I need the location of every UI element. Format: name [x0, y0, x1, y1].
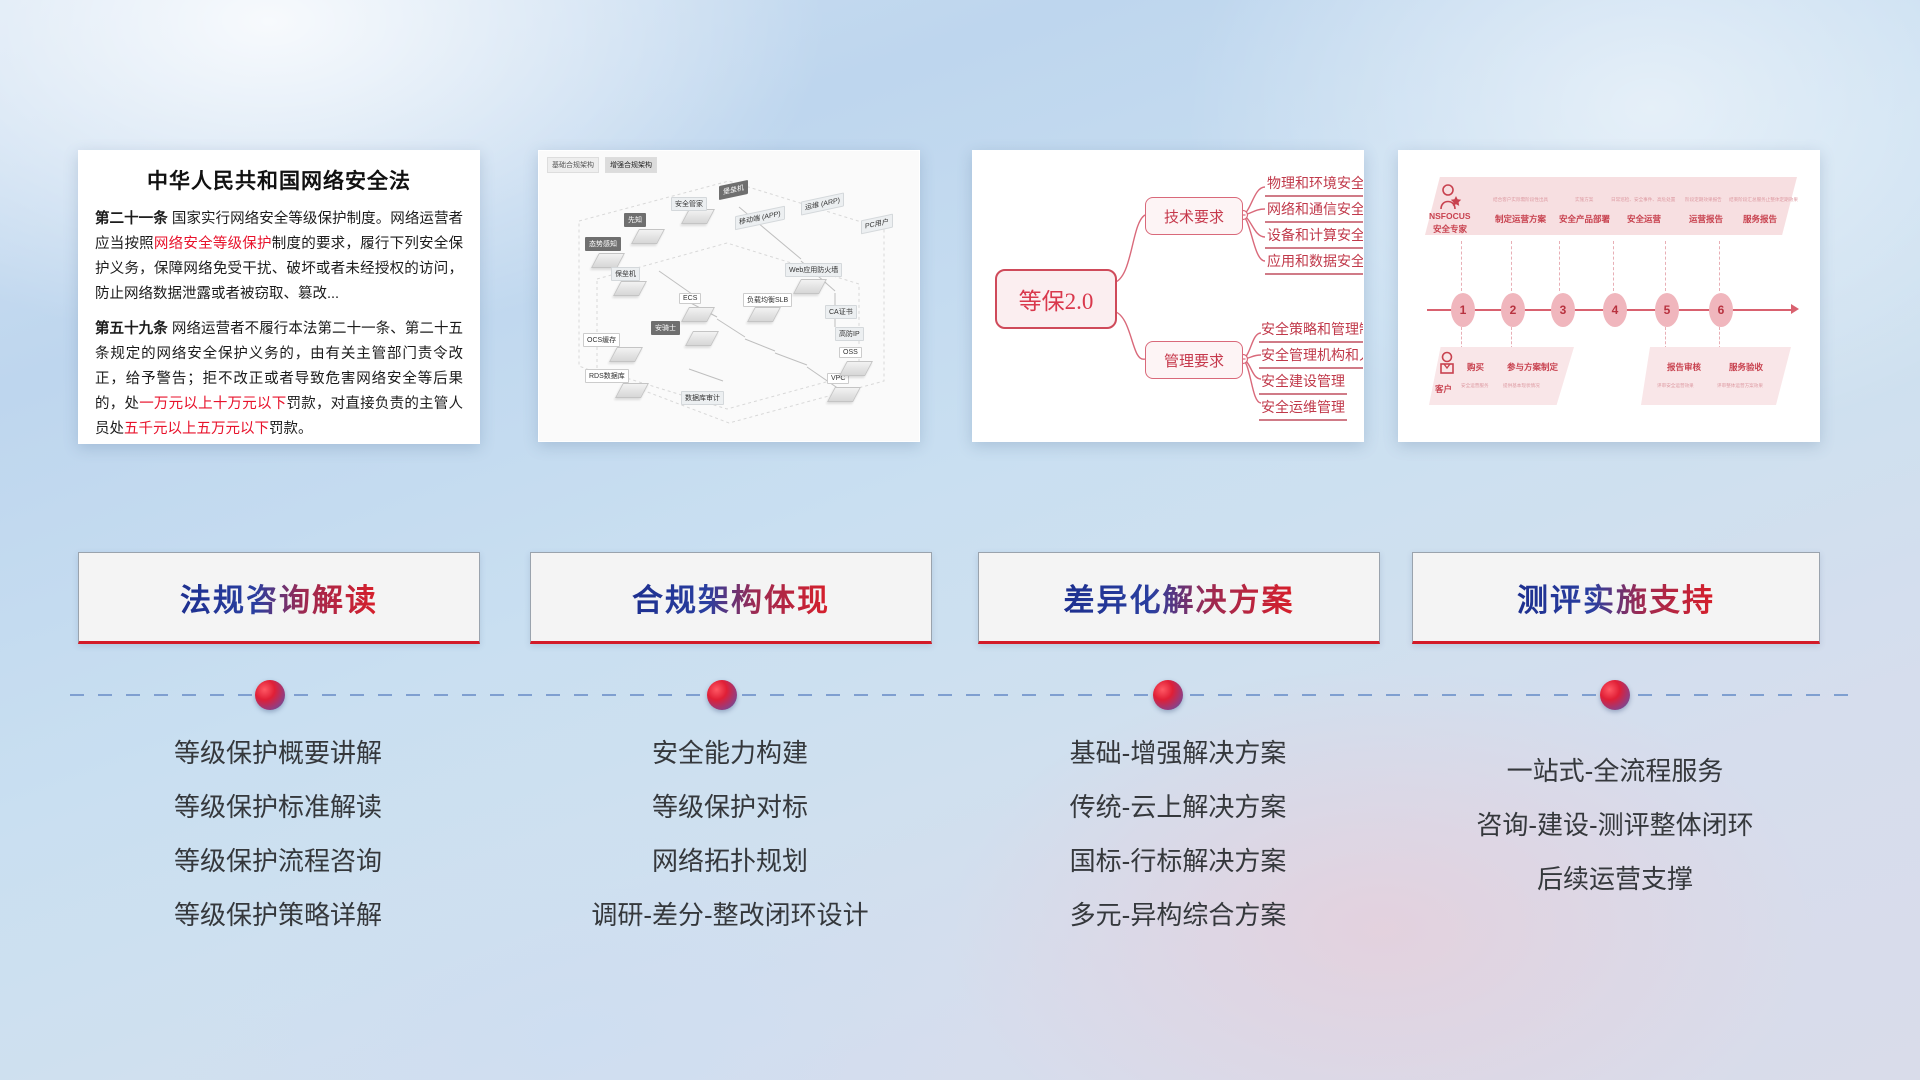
list-item: 安全能力构建 — [530, 740, 930, 766]
mindmap-leaf-mgmt-4: 安全运维管理 — [1259, 397, 1347, 421]
list-item: 后续运营支撑 — [1412, 866, 1818, 892]
pillar-box-regulation-consulting[interactable]: 法规咨询解读 — [78, 552, 480, 644]
nsfocus-step-2-sub: 结合客户实际需阶段性出具 — [1493, 197, 1548, 203]
nsfocus-step-4-dot: 4 — [1603, 293, 1627, 327]
timeline-dot-4[interactable] — [1600, 680, 1630, 710]
arch-node-slb: 负载均衡SLB — [743, 293, 792, 307]
nsfocus-step-5-dot: 5 — [1655, 293, 1679, 327]
pillar-boxes-row: 法规咨询解读 合规架构体现 差异化解决方案 测评实施支持 — [0, 552, 1920, 642]
nsfocus-step-3-dot: 3 — [1551, 293, 1575, 327]
mindmap-leaf-tech-4: 应用和数据安全 — [1265, 251, 1364, 275]
list-item: 调研-差分-整改闭环设计 — [530, 902, 930, 928]
nsfocus-bl-2-label: 参与方案制定 — [1507, 361, 1558, 373]
timeline-dot-3[interactable] — [1153, 680, 1183, 710]
pillar-label-4: 测评实施支持 — [1517, 575, 1715, 620]
list-item: 网络拓扑规划 — [530, 848, 930, 874]
list-item: 等级保护对标 — [530, 794, 930, 820]
nsfocus-bl-2-sub: 提供基本现状情况 — [1503, 383, 1540, 389]
nsfocus-step-2-label: 制定运营方案 — [1495, 213, 1546, 225]
law-article-21-highlight: 网络安全等级保护 — [154, 236, 272, 252]
nsfocus-step-5-label: 运营报告 — [1689, 213, 1723, 225]
detail-list-4: 一站式-全流程服务 咨询-建设-测评整体闭环 后续运营支撑 — [1412, 758, 1818, 920]
list-item: 传统-云上解决方案 — [978, 794, 1378, 820]
nsfocus-brand: NSFOCUS — [1429, 211, 1471, 221]
list-item: 基础-增强解决方案 — [978, 740, 1378, 766]
list-item: 等级保护概要讲解 — [78, 740, 478, 766]
pillar-label-3: 差异化解决方案 — [1064, 575, 1295, 620]
timeline-dot-1[interactable] — [255, 680, 285, 710]
law-fine-person: 五千元以上五万元以下 — [124, 421, 269, 437]
mindmap-diagram: 等保2.0 技术要求 管理要求 物理和环境安全 网络和通信安全 设备和计算安全 … — [973, 151, 1363, 441]
arch-node-oss: OSS — [839, 347, 862, 358]
screenshot-cards-row: 中华人民共和国网络安全法 第二十一条 国家实行网络安全等级保护制度。网络运营者应… — [0, 150, 1920, 450]
pillar-box-assessment-support[interactable]: 测评实施支持 — [1412, 552, 1820, 644]
law-fine-company: 一万元以上十万元以下 — [139, 396, 286, 412]
pillar-box-differentiated-solution[interactable]: 差异化解决方案 — [978, 552, 1380, 644]
arch-node-ocs-cache: OCS缓存 — [583, 333, 620, 347]
law-article-59-end: 罚款。 — [269, 421, 313, 437]
arch-node-situation-awareness: 态势感知 — [585, 237, 621, 251]
arch-node-anqishi: 安骑士 — [651, 321, 680, 335]
mindmap-leaf-mgmt-2: 安全管理机构和人员 — [1259, 345, 1364, 369]
list-item: 国标-行标解决方案 — [978, 848, 1378, 874]
arch-node-anti-ddos: 高防IP — [835, 327, 864, 341]
nsfocus-step-4-label: 安全运营 — [1627, 213, 1661, 225]
arch-node-bastion: 保垒机 — [611, 267, 640, 281]
nsfocus-step-6-label: 服务报告 — [1743, 213, 1777, 225]
architecture-diagram: 基础合规架构 增强合规架构 — [539, 151, 919, 441]
arch-node-db-audit: 数据库审计 — [681, 391, 724, 405]
list-item: 咨询-建设-测评整体闭环 — [1412, 812, 1818, 838]
nsfocus-brand-sub: 安全专家 — [1433, 223, 1467, 235]
card-dengbao-mindmap[interactable]: 等保2.0 技术要求 管理要求 物理和环境安全 网络和通信安全 设备和计算安全 … — [972, 150, 1364, 442]
law-article-21: 第二十一条 国家实行网络安全等级保护制度。网络运营者应当按照网络安全等级保护制度… — [95, 207, 463, 307]
mindmap-leaf-mgmt-3: 安全建设管理 — [1259, 371, 1347, 395]
list-item: 等级保护策略详解 — [78, 902, 478, 928]
law-article-21-label: 第二十一条 — [95, 211, 168, 227]
mindmap-branch-technical: 技术要求 — [1145, 197, 1243, 235]
detail-list-3: 基础-增强解决方案 传统-云上解决方案 国标-行标解决方案 多元-异构综合方案 — [978, 740, 1378, 956]
law-article-59-label: 第五十九条 — [95, 321, 168, 337]
mindmap-leaf-tech-3: 设备和计算安全 — [1265, 225, 1364, 249]
nsfocus-step-3-label: 安全产品部署 — [1559, 213, 1610, 225]
mindmap-leaf-tech-2: 网络和通信安全 — [1265, 199, 1364, 223]
nsfocus-step-2-dot: 2 — [1501, 293, 1525, 327]
detail-list-2: 安全能力构建 等级保护对标 网络拓扑规划 调研-差分-整改闭环设计 — [530, 740, 930, 956]
nsfocus-top-band — [1425, 177, 1797, 235]
list-item: 一站式-全流程服务 — [1412, 758, 1818, 784]
nsfocus-bl-1-label: 购买 — [1467, 361, 1484, 373]
nsfocus-step-6-dot: 6 — [1709, 293, 1733, 327]
nsfocus-br-2-label: 服务验收 — [1729, 361, 1763, 373]
pillar-label-1: 法规咨询解读 — [180, 575, 378, 620]
timeline-dot-2[interactable] — [707, 680, 737, 710]
nsfocus-customer-label: 客户 — [1435, 383, 1452, 395]
nsfocus-br-1-label: 报告审核 — [1667, 361, 1701, 373]
nsfocus-step-3-sub: 实施方案 — [1575, 197, 1593, 203]
poster-stage: 中华人民共和国网络安全法 第二十一条 国家实行网络安全等级保护制度。网络运营者应… — [0, 0, 1920, 1080]
security-expert-icon — [1437, 183, 1463, 211]
nsfocus-diagram: NSFOCUS 安全专家 结合客户实际需阶段性出具 制定运营方案 实施方案 安全… — [1399, 151, 1819, 441]
card-nsfocus-service-flow[interactable]: NSFOCUS 安全专家 结合客户实际需阶段性出具 制定运营方案 实施方案 安全… — [1398, 150, 1820, 442]
mindmap-root: 等保2.0 — [995, 269, 1117, 329]
law-body: 中华人民共和国网络安全法 第二十一条 国家实行网络安全等级保护制度。网络运营者应… — [79, 151, 479, 443]
arch-node-waf: Web应用防火墙 — [785, 263, 842, 277]
mindmap-leaf-tech-1: 物理和环境安全 — [1265, 173, 1364, 197]
card-compliance-architecture[interactable]: 基础合规架构 增强合规架构 — [538, 150, 920, 442]
law-title: 中华人民共和国网络安全法 — [95, 165, 463, 195]
nsfocus-step-5-sub: 阶段定期效果报告 — [1685, 197, 1722, 203]
list-item: 等级保护流程咨询 — [78, 848, 478, 874]
arch-node-ecs: ECS — [679, 293, 701, 304]
timeline-dashed-line — [70, 694, 1850, 696]
law-article-59: 第五十九条 网络运营者不履行本法第二十一条、第二十五条规定的网络安全保护义务的，… — [95, 317, 463, 442]
list-item: 多元-异构综合方案 — [978, 902, 1378, 928]
mindmap-branch-management: 管理要求 — [1145, 341, 1243, 379]
pillar-label-2: 合规架构体现 — [632, 575, 830, 620]
customer-icon — [1437, 351, 1459, 377]
list-item: 等级保护标准解读 — [78, 794, 478, 820]
nsfocus-step-4-sub: 日常巡检、安全事件、高危处置 — [1611, 197, 1675, 203]
nsfocus-bl-1-sub: 安全运营服务 — [1461, 383, 1489, 389]
nsfocus-br-1-sub: 评审安全运营效果 — [1657, 383, 1694, 389]
nsfocus-step-1-dot: 1 — [1451, 293, 1475, 327]
nsfocus-customer-trapezoid-right — [1641, 347, 1791, 405]
arch-node-rds: RDS数据库 — [585, 369, 629, 383]
pillar-box-compliance-architecture[interactable]: 合规架构体现 — [530, 552, 932, 644]
arch-node-security-butler: 安全管家 — [671, 197, 707, 211]
nsfocus-axis-arrow — [1791, 304, 1799, 314]
card-cybersecurity-law[interactable]: 中华人民共和国网络安全法 第二十一条 国家实行网络安全等级保护制度。网络运营者应… — [78, 150, 480, 444]
detail-list-1: 等级保护概要讲解 等级保护标准解读 等级保护流程咨询 等级保护策略详解 — [78, 740, 478, 956]
nsfocus-step-6-sub: 结束阶段汇总服务止整体定期效果 — [1729, 197, 1798, 203]
mindmap-leaf-mgmt-1: 安全策略和管理制度 — [1259, 319, 1364, 343]
arch-node-ca-cert: CA证书 — [825, 305, 857, 319]
nsfocus-br-2-sub: 评审整体运营方案效果 — [1717, 383, 1763, 389]
arch-node-xianzhi: 先知 — [624, 213, 646, 227]
